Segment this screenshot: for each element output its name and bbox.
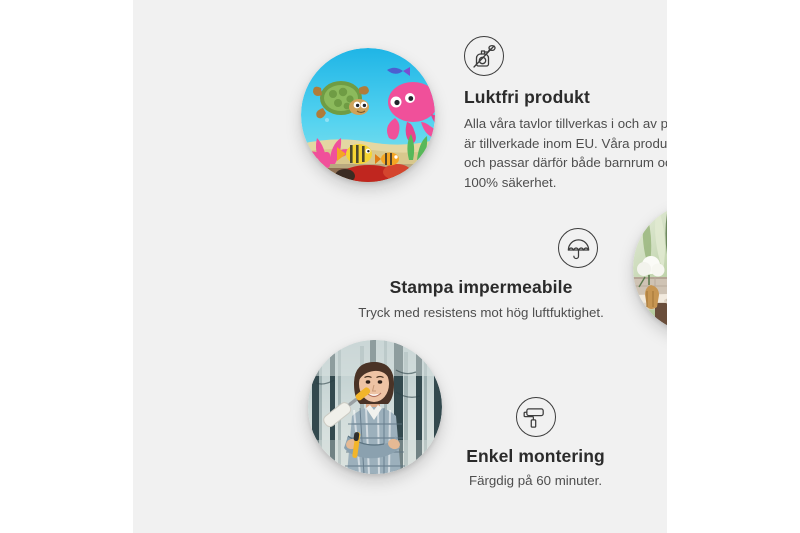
umbrella-icon: [558, 228, 598, 268]
feature-body: Färgdig på 60 minuter.: [428, 471, 643, 491]
feature-body: Alla våra tavlor tillverkas i och av pro…: [464, 114, 667, 192]
product-photo-bathroom[interactable]: [633, 203, 667, 333]
feature-body: Tryck med resistens mot hög luftfuktighe…: [336, 303, 626, 323]
feature-title: Enkel montering: [428, 446, 643, 467]
screenshot-root: Luktfri produkt Alla våra tavlor tillver…: [0, 0, 800, 533]
feature-title: Luktfri produkt: [464, 87, 667, 108]
no-spray-bottle-icon: [464, 36, 504, 76]
content-panel: Luktfri produkt Alla våra tavlor tillver…: [133, 0, 667, 533]
feature-odourless: Luktfri produkt Alla våra tavlor tillver…: [464, 36, 667, 192]
feature-waterproof: Stampa impermeabile Tryck med resistens …: [336, 228, 626, 323]
feature-install: Enkel montering Färgdig på 60 minuter.: [428, 397, 643, 491]
product-photo-painter[interactable]: [308, 340, 442, 474]
feature-title: Stampa impermeabile: [336, 277, 626, 298]
paint-roller-icon: [516, 397, 556, 437]
product-photo-kids-sea[interactable]: [301, 48, 435, 182]
